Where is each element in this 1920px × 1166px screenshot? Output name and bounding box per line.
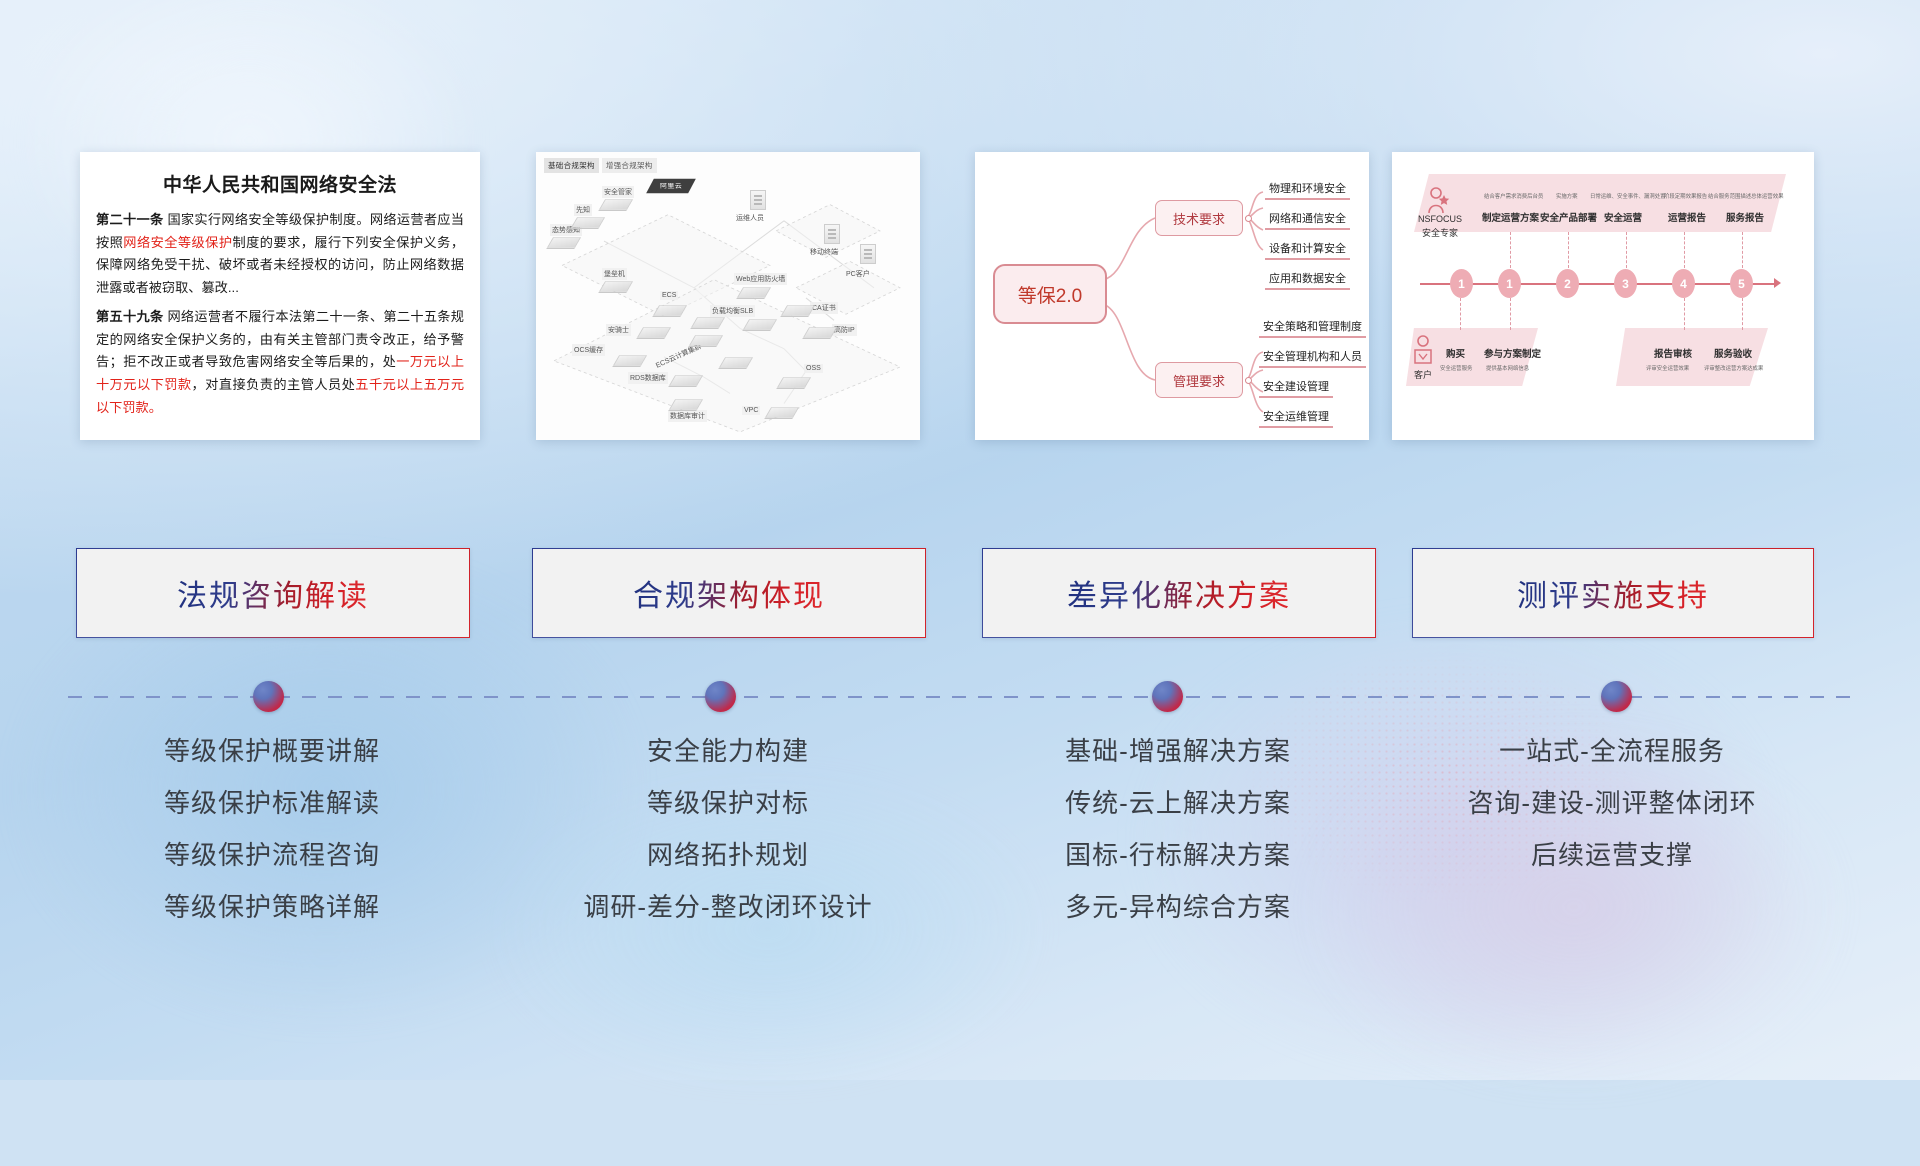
architecture-ribbon-cloud: 阿里云 [646, 179, 696, 193]
architecture-node-ops-staff [750, 190, 766, 210]
detail-list-assessment: 一站式-全流程服务 咨询-建设-测评整体闭环 后续运营支撑 [1412, 738, 1812, 894]
list-item: 等级保护对标 [532, 790, 924, 816]
architecture-diagram: 基础合规架构 增强合规架构 [536, 152, 920, 440]
mindmap-branch-management[interactable]: 管理要求 [1155, 362, 1243, 398]
section-header-architecture-label: 合规架构体现 [633, 571, 825, 615]
architecture-node-ca-cert: CA证书 [784, 302, 812, 319]
section-header-regulation[interactable]: 法规咨询解读 [76, 548, 470, 638]
detail-list-solution: 基础-增强解决方案 传统-云上解决方案 国标-行标解决方案 多元-异构综合方案 [982, 738, 1374, 946]
customer-icon [1412, 334, 1434, 368]
timeline-bottom-main-acceptance: 服务验收 [1714, 346, 1752, 360]
detail-list-architecture: 安全能力构建 等级保护对标 网络拓扑规划 调研-差分-整改闭环设计 [532, 738, 924, 946]
law-article-21-label: 第二十一条 [96, 212, 163, 227]
architecture-node-bastion-host: 堡垒机 [602, 278, 630, 295]
list-item: 一站式-全流程服务 [1412, 738, 1812, 764]
list-item: 等级保护标准解读 [76, 790, 468, 816]
architecture-node-anti-ddos-ip: 高防IP [806, 324, 834, 341]
timeline-dash-4 [1626, 232, 1627, 268]
timeline-node-3[interactable]: 2 [1556, 269, 1579, 298]
timeline-node-5[interactable]: 4 [1672, 269, 1695, 298]
list-item: 等级保护策略详解 [76, 894, 468, 920]
timeline-bottom-sub-acceptance: 评审整改运营方案达成果 [1704, 364, 1763, 372]
mindmap-leaf-app-data: 应用和数据安全 [1265, 270, 1350, 290]
timeline-dash-2 [1510, 232, 1511, 268]
security-expert-icon [1426, 186, 1452, 216]
architecture-node-security-butler: 安全管家 [602, 196, 630, 213]
list-item: 安全能力构建 [532, 738, 924, 764]
list-item: 调研-差分-整改闭环设计 [532, 894, 924, 920]
timeline-bottom-sub-review: 评审安全运营效果 [1646, 364, 1689, 372]
architecture-node-ecs: ECS [656, 302, 684, 319]
timeline-node-6[interactable]: 5 [1730, 269, 1753, 298]
mindmap-leaf-device-compute: 设备和计算安全 [1265, 240, 1350, 260]
detail-list-regulation: 等级保护概要讲解 等级保护标准解读 等级保护流程咨询 等级保护策略详解 [76, 738, 468, 946]
list-item: 传统-云上解决方案 [982, 790, 1374, 816]
section-detail-row: 等级保护概要讲解 等级保护标准解读 等级保护流程咨询 等级保护策略详解 安全能力… [0, 738, 1920, 1038]
architecture-node-vpc: VPC [768, 404, 796, 421]
timeline-dash-b1 [1460, 298, 1461, 330]
architecture-node-ecs-worker-2 [722, 354, 750, 371]
process-marker-4[interactable] [1601, 681, 1632, 712]
architecture-node-pc-client [860, 244, 876, 264]
card-mindmap-dengbao[interactable]: 等保2.0 技术要求 物理和环境安全 网络和通信安全 设备和计算安全 应用和数据… [975, 152, 1369, 440]
timeline-main-3: 安全运营 [1604, 210, 1642, 224]
timeline-axis [1420, 283, 1776, 285]
illustration-card-row: 中华人民共和国网络安全法 第二十一条 国家实行网络安全等级保护制度。网络运营者应… [0, 152, 1920, 450]
architecture-node-situational-awareness: 态势感知 [550, 234, 578, 251]
timeline-sub-1: 结合客户需求消费后台员 [1484, 192, 1543, 200]
list-item: 多元-异构综合方案 [982, 894, 1374, 920]
timeline-node-4[interactable]: 3 [1614, 269, 1637, 298]
list-item: 等级保护流程咨询 [76, 842, 468, 868]
timeline-dash-6 [1742, 232, 1743, 268]
list-item: 基础-增强解决方案 [982, 738, 1374, 764]
timeline-dash-b6 [1742, 298, 1743, 330]
timeline-main-4: 运营报告 [1668, 210, 1706, 224]
timeline-bottom-main-purchase: 购买 [1446, 346, 1465, 360]
timeline-bottom-sub-participate: 提供基本网络信息 [1486, 364, 1529, 372]
timeline-bottom-main-review: 报告审核 [1654, 346, 1692, 360]
process-marker-3[interactable] [1152, 681, 1183, 712]
law-document: 中华人民共和国网络安全法 第二十一条 国家实行网络安全等级保护制度。网络运营者应… [80, 152, 480, 440]
architecture-node-ocs-cache: OCS缓存 [616, 352, 644, 369]
timeline-bottom-main-participate: 参与方案制定 [1484, 346, 1541, 360]
mindmap-leaf-network-comm: 网络和通信安全 [1265, 210, 1350, 230]
architecture-node-ecs-worker-1 [692, 332, 720, 349]
architecture-node-anqishi: 安骑士 [640, 324, 668, 341]
list-item: 后续运营支撑 [1412, 842, 1812, 868]
list-item: 咨询-建设-测评整体闭环 [1412, 790, 1812, 816]
timeline-sub-3: 日常运维、安全事件、漏洞处置 [1590, 192, 1665, 200]
timeline-dash-b5 [1684, 298, 1685, 330]
list-item: 网络拓扑规划 [532, 842, 924, 868]
law-article-59-text-b: ，对直接负责的主管人员处 [192, 377, 356, 392]
section-header-architecture[interactable]: 合规架构体现 [532, 548, 926, 638]
section-header-assessment-label: 测评实施支持 [1517, 571, 1709, 615]
mindmap-leaf-org-personnel: 安全管理机构和人员 [1259, 348, 1366, 368]
law-article-21-highlight: 网络安全等级保护 [123, 235, 232, 250]
timeline-main-5: 服务报告 [1726, 210, 1764, 224]
card-cybersecurity-law[interactable]: 中华人民共和国网络安全法 第二十一条 国家实行网络安全等级保护制度。网络运营者应… [80, 152, 480, 440]
mindmap-leaf-construction-mgmt: 安全建设管理 [1259, 378, 1333, 398]
timeline-main-1: 制定运营方案 [1482, 210, 1539, 224]
card-cloud-architecture[interactable]: 基础合规架构 增强合规架构 [536, 152, 920, 440]
architecture-canvas: 阿里云 态势感知 先知 安全管家 堡垒机 ECS [544, 168, 912, 434]
architecture-node-slb: 负载均衡SLB [746, 316, 774, 333]
mindmap-leaf-ops-mgmt: 安全运维管理 [1259, 408, 1333, 428]
timeline-bottom-sub-purchase: 安全运营服务 [1440, 364, 1472, 372]
mindmap-collapse-dot-technical[interactable] [1245, 215, 1252, 222]
card-service-timeline[interactable]: NSFOCUS 安全专家 1 1 2 3 4 5 结合客户需求消费后台员 制定运… [1392, 152, 1814, 440]
timeline-sub-2: 实施方案 [1556, 192, 1578, 200]
timeline-node-1[interactable]: 1 [1450, 269, 1473, 298]
section-header-solution[interactable]: 差异化解决方案 [982, 548, 1376, 638]
law-title: 中华人民共和国网络安全法 [96, 170, 464, 197]
section-header-assessment[interactable]: 测评实施支持 [1412, 548, 1814, 638]
timeline-dash-b2 [1510, 298, 1511, 330]
mindmap-root[interactable]: 等保2.0 [993, 264, 1107, 324]
list-item: 等级保护概要讲解 [76, 738, 468, 764]
law-article-59-label: 第五十九条 [96, 309, 163, 324]
section-header-row: 法规咨询解读 合规架构体现 差异化解决方案 测评实施支持 [0, 548, 1920, 644]
section-header-solution-label: 差异化解决方案 [1067, 571, 1291, 615]
timeline-node-2[interactable]: 1 [1498, 269, 1521, 298]
process-dashed-line [68, 696, 1852, 698]
mindmap-collapse-dot-management[interactable] [1245, 377, 1252, 384]
mindmap: 等保2.0 技术要求 物理和环境安全 网络和通信安全 设备和计算安全 应用和数据… [975, 152, 1369, 440]
timeline-sub-4: 阶段定期效果报告 [1664, 192, 1707, 200]
architecture-node-mobile-client [824, 224, 840, 244]
law-article-59: 第五十九条 网络运营者不履行本法第二十一条、第二十五条规定的网络安全保护义务的，… [96, 306, 464, 420]
timeline-expert-label-line2: 安全专家 [1412, 226, 1468, 239]
mindmap-branch-technical[interactable]: 技术要求 [1155, 200, 1243, 236]
process-marker-1[interactable] [253, 681, 284, 712]
timeline-dash-5 [1684, 232, 1685, 268]
service-timeline: NSFOCUS 安全专家 1 1 2 3 4 5 结合客户需求消费后台员 制定运… [1392, 152, 1814, 440]
section-header-regulation-label: 法规咨询解读 [177, 571, 369, 615]
architecture-node-db-audit: 数据库审计 [672, 396, 700, 413]
timeline-sub-5: 结合服务范围描述总体运营效果 [1708, 192, 1783, 200]
architecture-node-rds: RDS数据库 [672, 372, 700, 389]
timeline-dash-3 [1568, 232, 1569, 268]
architecture-node-waf: Web应用防火墙 [740, 284, 768, 301]
architecture-node-xianzhi: 先知 [574, 214, 602, 231]
law-article-21: 第二十一条 国家实行网络安全等级保护制度。网络运营者应当按照网络安全等级保护制度… [96, 209, 464, 300]
timeline-axis-arrow [1774, 278, 1781, 288]
timeline-expert-label-line1: NSFOCUS [1412, 214, 1468, 224]
architecture-node-oss: OSS [780, 374, 808, 391]
architecture-node-ecs-worker-3 [694, 314, 722, 331]
timeline-customer-label: 客户 [1410, 368, 1436, 381]
process-marker-2[interactable] [705, 681, 736, 712]
timeline-main-2: 安全产品部署 [1540, 210, 1597, 224]
list-item: 国标-行标解决方案 [982, 842, 1374, 868]
mindmap-leaf-physical-env: 物理和环境安全 [1265, 180, 1350, 200]
mindmap-leaf-policy-system: 安全策略和管理制度 [1259, 318, 1366, 338]
